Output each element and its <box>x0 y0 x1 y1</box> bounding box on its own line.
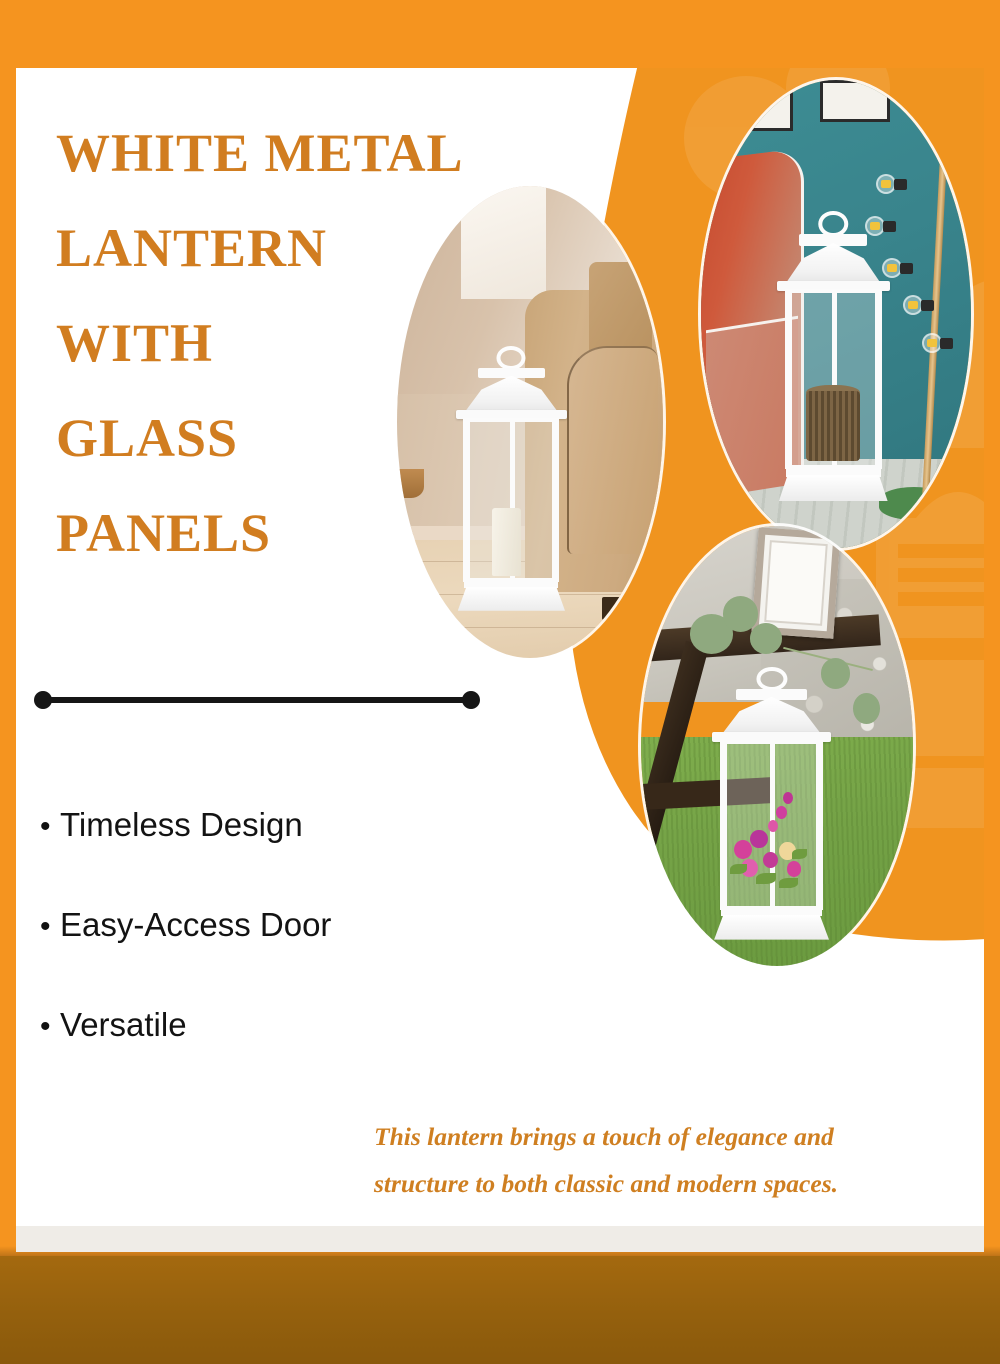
divider-dot-right <box>462 691 480 709</box>
tagline: This lantern brings a touch of elegance … <box>374 1113 934 1207</box>
flower <box>763 852 778 869</box>
foliage <box>792 849 807 859</box>
window <box>461 186 546 299</box>
lantern-base-rim <box>786 466 881 476</box>
flower <box>776 806 787 819</box>
product-photo-garden <box>641 526 913 966</box>
lantern-base <box>714 915 829 940</box>
flower <box>768 820 778 832</box>
window-right <box>820 80 890 122</box>
divider <box>34 690 494 710</box>
lantern-roof <box>721 697 822 735</box>
lantern-product <box>712 667 832 940</box>
lantern-base-rim <box>721 907 822 917</box>
armchair-arm <box>567 346 657 554</box>
lantern-product <box>456 346 568 610</box>
card-footer-strip <box>16 1226 984 1252</box>
bottom-band <box>0 1256 1000 1364</box>
bullet-dot-icon: • <box>40 912 60 942</box>
product-photo-living-room <box>397 186 663 658</box>
lantern-roof <box>464 376 558 413</box>
teal-room-scene <box>701 80 971 548</box>
bullet-dot-icon: • <box>40 1012 60 1042</box>
lantern-handle-ring <box>756 667 787 692</box>
edison-bulb-icon <box>922 333 952 355</box>
garden-scene <box>641 526 913 966</box>
lantern-base <box>779 475 888 501</box>
feature-label-2: Easy-Access Door <box>60 908 331 941</box>
flower <box>787 861 802 877</box>
lantern-handle-ring <box>497 346 526 370</box>
lantern-base-rim <box>464 579 558 588</box>
tagline-line-1: This lantern brings a touch of elegance … <box>374 1113 934 1160</box>
lantern-roof <box>786 243 881 284</box>
floor-seam <box>397 627 663 628</box>
flower <box>750 830 767 848</box>
armchair-foot <box>602 597 626 621</box>
feature-label-1: Timeless Design <box>60 808 303 841</box>
tagline-line-2: structure to both classic and modern spa… <box>374 1160 934 1207</box>
log-candle <box>806 391 860 461</box>
content-card: WHITE METAL LANTERN WITH GLASS PANELS • … <box>16 68 984 1252</box>
product-photo-teal-room <box>701 80 971 548</box>
bullet-dot-icon: • <box>40 812 60 842</box>
flower-bouquet <box>728 787 819 907</box>
flower <box>734 840 752 859</box>
flower <box>783 792 793 804</box>
pillar-candle <box>492 508 521 577</box>
list-item: • Easy-Access Door <box>40 908 470 942</box>
list-item: • Timeless Design <box>40 808 470 842</box>
living-room-scene <box>397 186 663 658</box>
list-item: • Versatile <box>40 1008 470 1042</box>
feature-label-3: Versatile <box>60 1008 187 1041</box>
poster-frame: WHITE METAL LANTERN WITH GLASS PANELS • … <box>0 0 1000 1364</box>
lantern-handle-ring <box>819 211 848 237</box>
lantern-product <box>777 211 890 501</box>
window-left <box>733 80 792 131</box>
wood-bowl <box>397 469 424 497</box>
eucalyptus-leaf <box>723 596 758 631</box>
divider-bar <box>42 697 470 703</box>
foliage <box>756 873 776 884</box>
edison-bulb-icon <box>876 174 906 196</box>
picture-frame-inner <box>764 540 827 625</box>
feature-list: • Timeless Design • Easy-Access Door • V… <box>40 808 470 1108</box>
foliage <box>779 878 797 888</box>
eucalyptus-leaf <box>750 623 783 654</box>
edison-bulb-icon <box>903 295 933 317</box>
lantern-base <box>458 587 565 611</box>
